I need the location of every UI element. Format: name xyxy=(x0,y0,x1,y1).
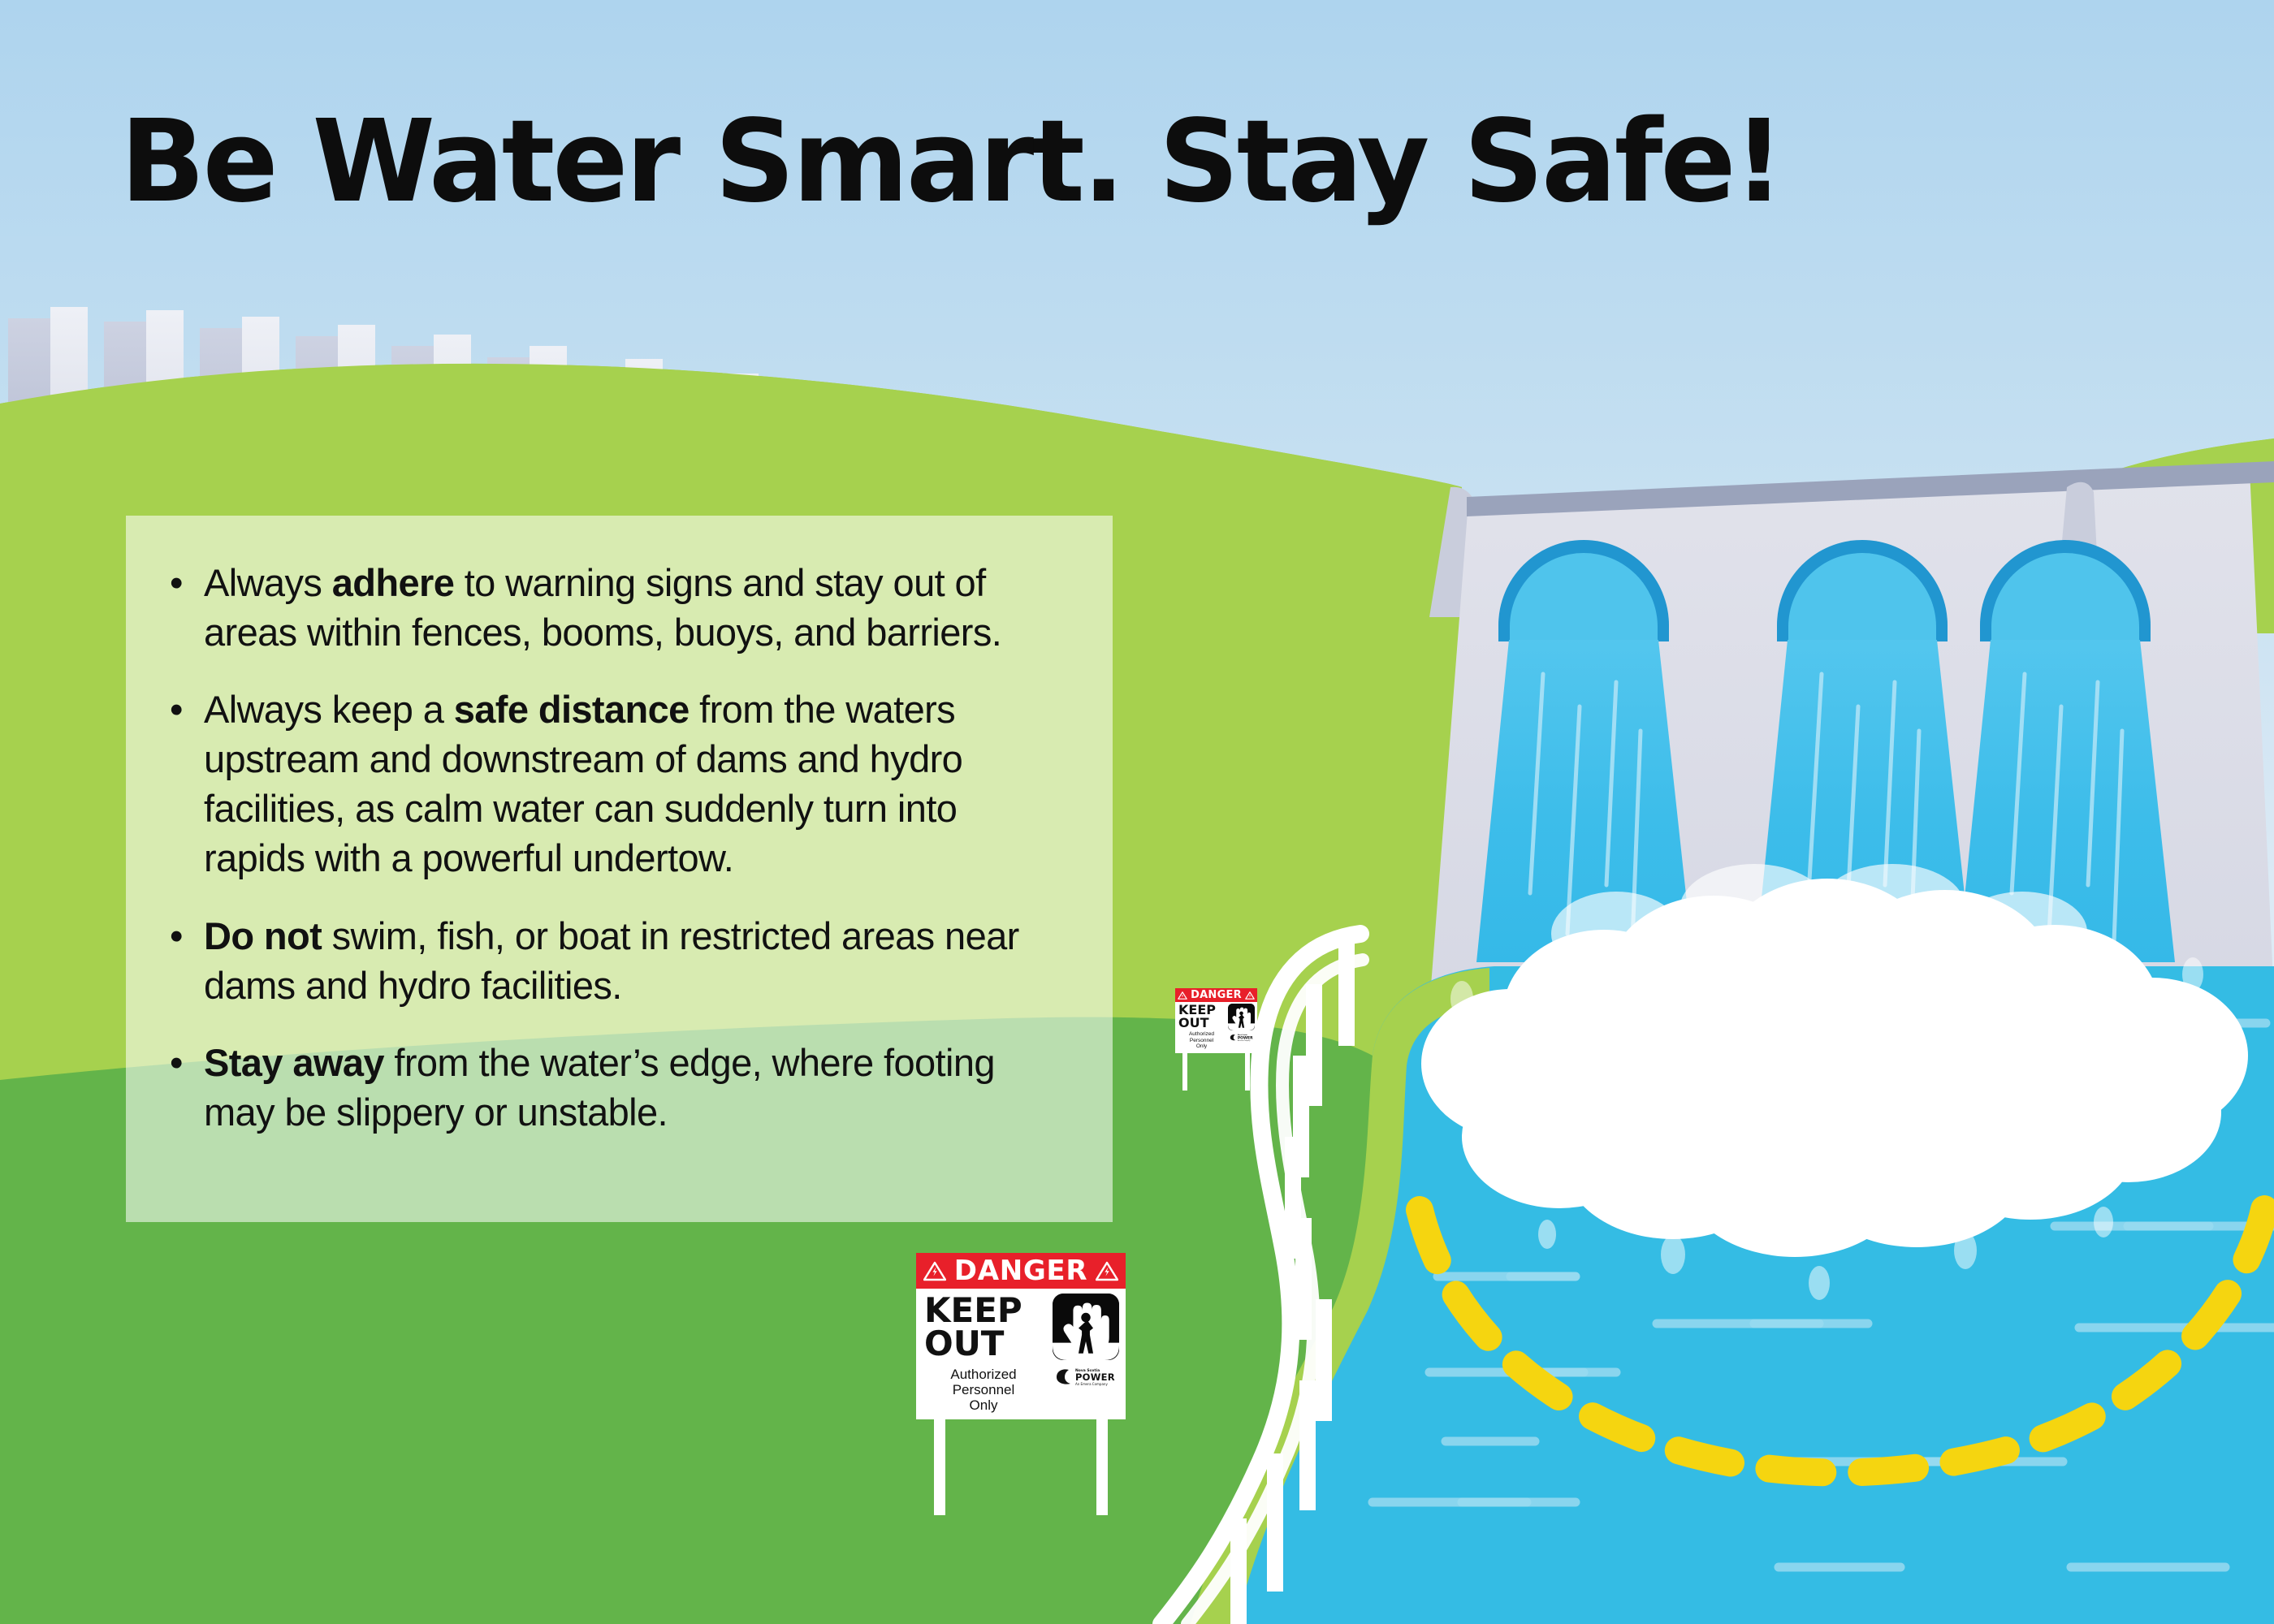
danger-label: DANGER xyxy=(954,1255,1087,1287)
authorized-line-2: Personnel xyxy=(924,1382,1043,1397)
nova-scotia-power-logo: Nova Scotia POWER An Emera Company xyxy=(1230,1033,1254,1042)
safety-tip-item: •Do not swim, fish, or boat in restricte… xyxy=(162,911,1067,1010)
authorized-line-1: Authorized xyxy=(924,1367,1043,1382)
safety-tip-text: Do not swim, fish, or boat in restricted… xyxy=(204,914,1019,1007)
page-title: Be Water Smart. Stay Safe! xyxy=(120,106,1782,219)
sign-leg-right xyxy=(1245,1053,1250,1091)
authorized-line-2: Personnel xyxy=(1178,1038,1225,1043)
emphasis-text: Stay away xyxy=(204,1041,384,1084)
poster-canvas: Be Water Smart. Stay Safe! •Always adher… xyxy=(0,0,2274,1624)
safety-tip-text: Always keep a safe distance from the wat… xyxy=(204,688,962,879)
safety-tip-text: Always adhere to warning signs and stay … xyxy=(204,561,1001,654)
danger-banner: DANGER xyxy=(1175,988,1257,1002)
stop-hand-person-icon xyxy=(1053,1294,1119,1360)
authorized-line-3: Only xyxy=(924,1397,1043,1413)
keep-out-line-2: OUT xyxy=(924,1327,1053,1360)
emphasis-text: safe distance xyxy=(454,688,690,731)
bullet-marker: • xyxy=(170,1038,183,1087)
svg-text:An Emera Company: An Emera Company xyxy=(1075,1382,1108,1386)
emphasis-text: Do not xyxy=(204,914,322,957)
body-text: swim, fish, or boat in restricted areas … xyxy=(204,914,1019,1007)
sign-leg-left xyxy=(1182,1053,1187,1091)
keep-out-line-1: KEEP xyxy=(924,1294,1053,1327)
danger-sign-small[interactable]: DANGER KEEP OUT Authorized Personnel Onl… xyxy=(1175,988,1257,1053)
safety-tips-panel: •Always adhere to warning signs and stay… xyxy=(126,516,1113,1222)
warning-triangle-icon xyxy=(1245,991,1255,1000)
safety-tip-item: •Always adhere to warning signs and stay… xyxy=(162,558,1067,657)
keep-out-line-2: OUT xyxy=(1178,1017,1228,1030)
safety-tip-item: •Always keep a safe distance from the wa… xyxy=(162,685,1067,883)
body-text: Always xyxy=(204,561,332,604)
sign-legs xyxy=(916,1419,1126,1515)
authorized-line-3: Only xyxy=(1178,1043,1225,1049)
svg-text:POWER: POWER xyxy=(1075,1371,1115,1383)
danger-sign-large[interactable]: DANGER KEEP OUT Authorized Personnel Onl… xyxy=(916,1253,1126,1419)
bullet-marker: • xyxy=(170,558,183,607)
bullet-marker: • xyxy=(170,911,183,961)
authorized-line-1: Authorized xyxy=(1178,1031,1225,1037)
svg-text:Nova Scotia: Nova Scotia xyxy=(1237,1034,1247,1036)
sign-leg-left xyxy=(934,1419,945,1515)
sign-legs xyxy=(1175,1053,1257,1091)
warning-triangle-icon xyxy=(1096,1261,1118,1281)
nova-scotia-power-logo: Nova Scotia POWER An Emera Company xyxy=(1055,1366,1117,1387)
safety-tip-item: •Stay away from the water’s edge, where … xyxy=(162,1038,1067,1137)
safety-tips-list: •Always adhere to warning signs and stay… xyxy=(162,558,1067,1137)
danger-banner: DANGER xyxy=(916,1253,1126,1289)
body-text: Always keep a xyxy=(204,688,454,731)
bullet-marker: • xyxy=(170,685,183,734)
warning-triangle-icon xyxy=(1178,991,1187,1000)
warning-triangle-icon xyxy=(923,1261,946,1281)
safety-tip-text: Stay away from the water’s edge, where f… xyxy=(204,1041,995,1134)
svg-text:POWER: POWER xyxy=(1237,1035,1252,1040)
danger-label: DANGER xyxy=(1191,989,1242,1001)
sign-leg-right xyxy=(1096,1419,1108,1515)
stop-hand-person-icon xyxy=(1228,1004,1255,1030)
emphasis-text: adhere xyxy=(332,561,455,604)
